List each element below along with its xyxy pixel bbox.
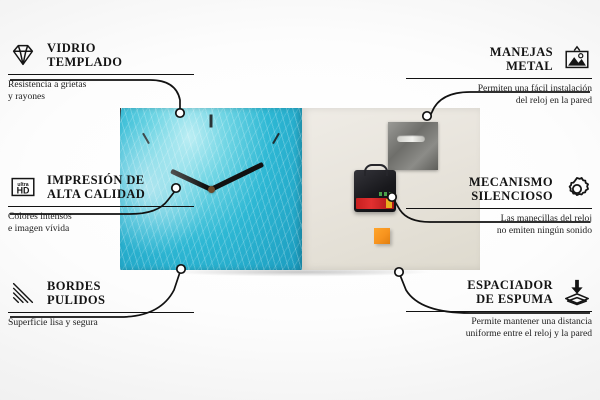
polished-edge-icon — [8, 278, 38, 308]
feature-title: ESPACIADOR DE ESPUMA — [467, 278, 553, 306]
feature-mecanismo-silencioso[interactable]: MECANISMO SILENCIOSO Las manecillas del … — [406, 174, 592, 236]
clock-second-hand — [120, 108, 121, 168]
feature-description: Colores intensos e imagen vívida — [8, 211, 194, 234]
mechanism-label — [379, 192, 393, 196]
ultra-hd-icon: ultra HD — [8, 172, 38, 202]
feature-header: MECANISMO SILENCIOSO — [406, 174, 592, 204]
feature-divider — [406, 78, 592, 79]
feature-header: ultra HD IMPRESIÓN DE ALTA CALIDAD — [8, 172, 194, 202]
metal-hanger-plate — [388, 122, 438, 170]
feature-header: VIDRIO TEMPLADO — [8, 40, 194, 70]
feature-header: ESPACIADOR DE ESPUMA — [406, 277, 592, 307]
clock-tick — [142, 133, 150, 144]
foam-spacer — [374, 228, 390, 244]
feature-divider — [8, 74, 194, 75]
feature-bordes-pulidos[interactable]: BORDES PULIDOS Superficie lisa y segura — [8, 278, 194, 329]
clock-tick — [210, 115, 213, 128]
feature-header: MANEJAS METAL — [406, 44, 592, 74]
feature-divider — [406, 311, 592, 312]
feature-vidrio-templado[interactable]: VIDRIO TEMPLADO Resistencia a grietas y … — [8, 40, 194, 102]
feature-title: BORDES PULIDOS — [47, 279, 105, 307]
mechanism-loop — [364, 164, 388, 176]
quartz-mechanism — [354, 170, 396, 212]
feature-description: Superficie lisa y segura — [8, 317, 194, 329]
picture-hook-icon — [562, 44, 592, 74]
diamond-icon — [8, 40, 38, 70]
feature-divider — [8, 312, 194, 313]
clock-tick — [272, 133, 280, 144]
feature-impresion-alta-calidad[interactable]: ultra HD IMPRESIÓN DE ALTA CALIDAD Color… — [8, 172, 194, 234]
foam-spacer-icon — [562, 277, 592, 307]
feature-description: Las manecillas del reloj no emiten ningú… — [406, 213, 592, 236]
infographic-canvas: VIDRIO TEMPLADO Resistencia a grietas y … — [0, 0, 600, 400]
feature-title: MANEJAS METAL — [490, 45, 553, 73]
feature-description: Resistencia a grietas y rayones — [8, 79, 194, 102]
battery — [356, 198, 394, 209]
feature-title: IMPRESIÓN DE ALTA CALIDAD — [47, 173, 145, 201]
feature-divider — [406, 208, 592, 209]
svg-text:HD: HD — [17, 186, 30, 196]
feature-divider — [8, 206, 194, 207]
hanger-slot — [397, 135, 425, 142]
feature-description: Permite mantener una distancia uniforme … — [406, 316, 592, 339]
feature-description: Permiten una fácil instalación del reloj… — [406, 83, 592, 106]
feature-header: BORDES PULIDOS — [8, 278, 194, 308]
clock-center-hub — [208, 186, 215, 193]
feature-title: VIDRIO TEMPLADO — [47, 41, 122, 69]
clock-minute-hand — [210, 161, 264, 191]
feature-espaciador-espuma[interactable]: ESPACIADOR DE ESPUMA Permite mantener un… — [406, 277, 592, 339]
gear-icon — [562, 174, 592, 204]
feature-manejas-metal[interactable]: MANEJAS METAL Permiten una fácil instala… — [406, 44, 592, 106]
feature-title: MECANISMO SILENCIOSO — [469, 175, 553, 203]
